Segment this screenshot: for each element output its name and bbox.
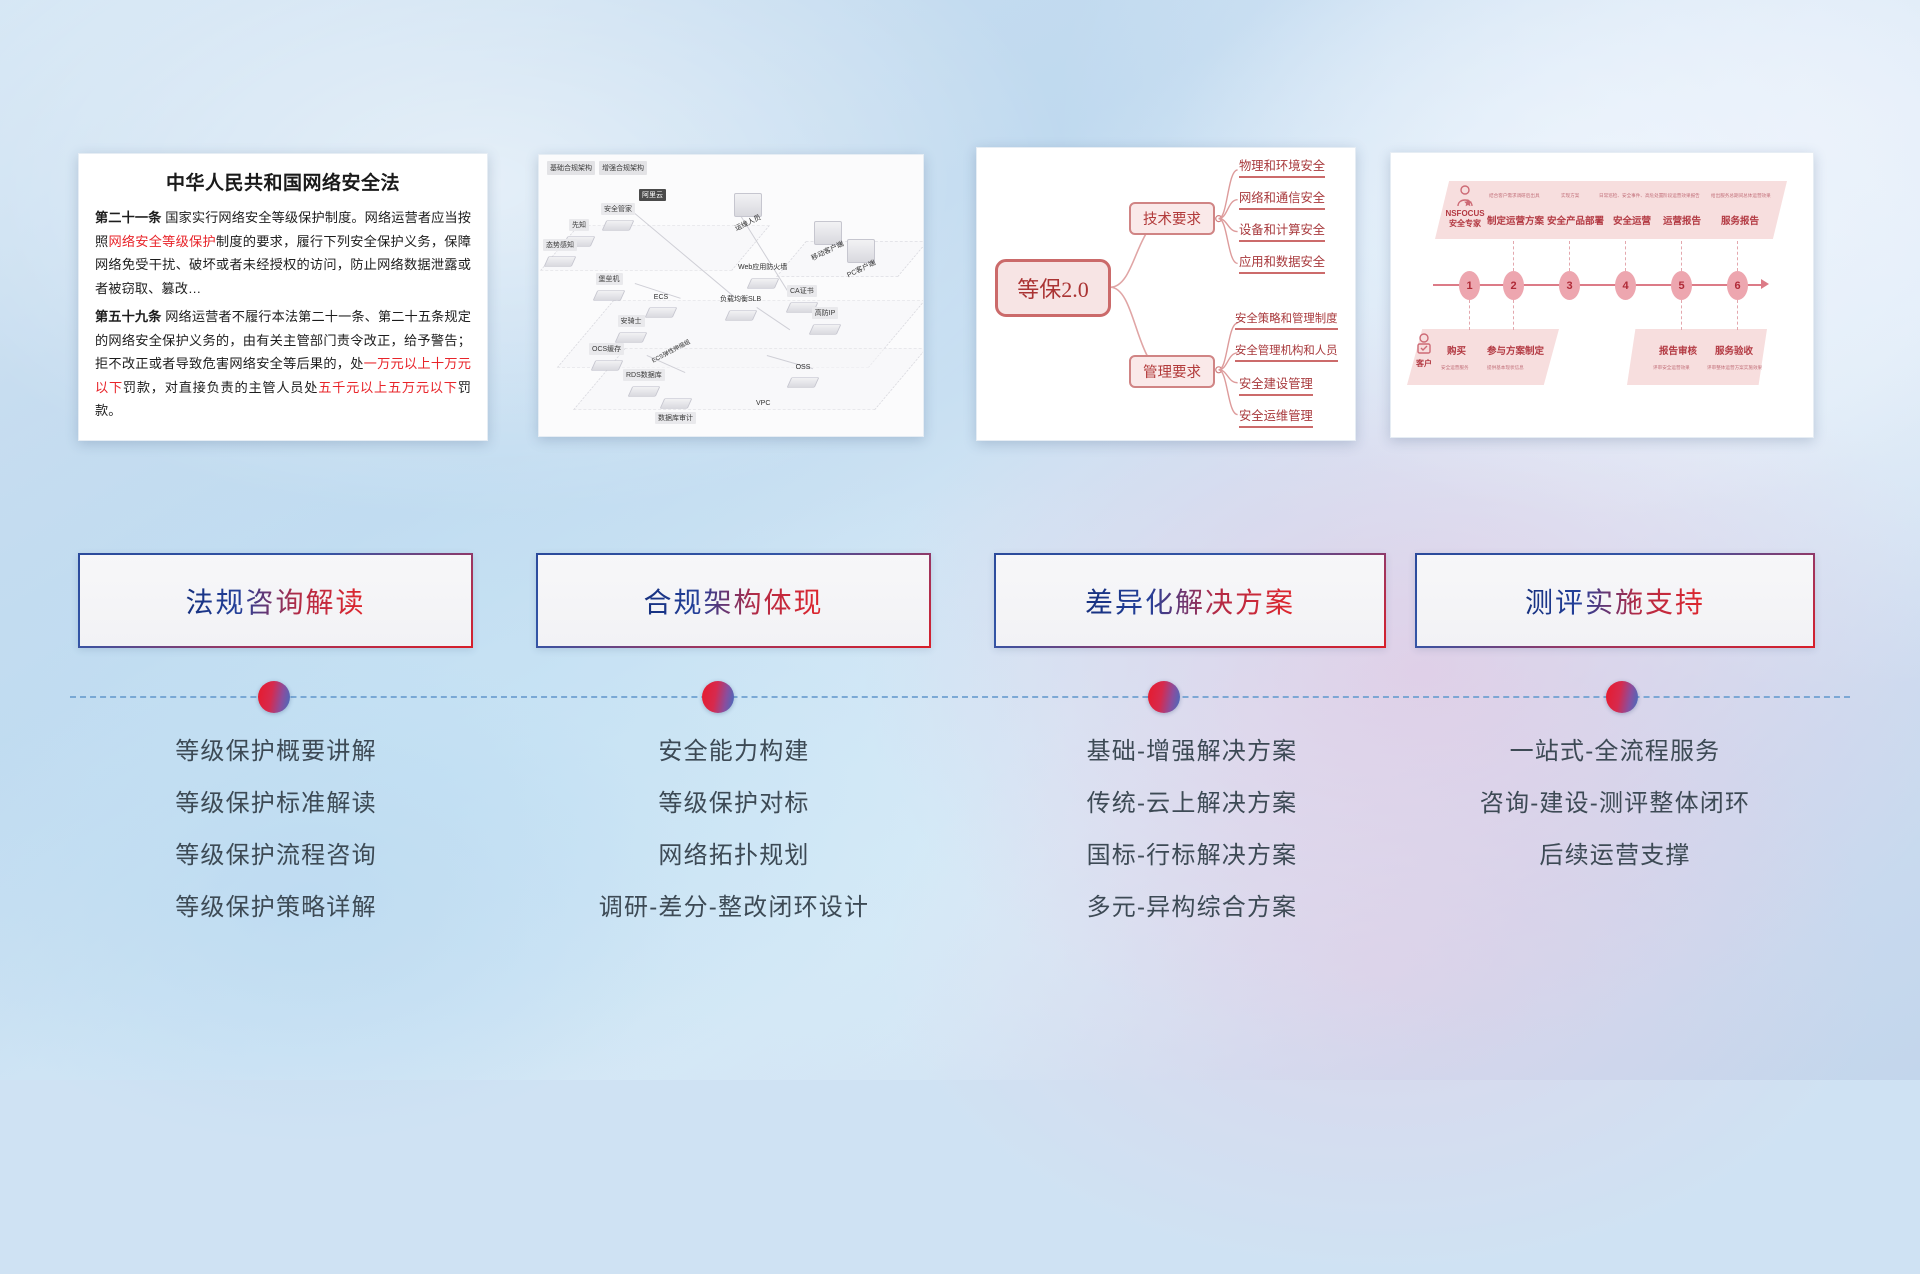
section-items-2: 基础-增强解决方案 传统-云上解决方案 国标-行标解决方案 多元-异构综合方案	[994, 740, 1390, 948]
node-icon-slb	[724, 310, 757, 321]
node-icon-bastion	[593, 290, 626, 301]
mindmap-branch-management: 管理要求	[1129, 355, 1215, 388]
timeline-axis	[1433, 284, 1763, 286]
timeline-top-sub-1: 结合客户需求调研后出具	[1489, 193, 1540, 199]
timeline-step-4: 4	[1615, 271, 1636, 300]
node-label-xianzhi: 先知	[569, 219, 589, 231]
timeline-rail	[70, 696, 1850, 698]
node-label-db-audit: 数据库审计	[655, 412, 696, 424]
law-title: 中华人民共和国网络安全法	[95, 168, 471, 195]
list-item: 传统-云上解决方案	[994, 792, 1390, 816]
timeline-top-title-1: 制定运营方案	[1487, 213, 1544, 227]
law-text-59b: 罚款，对直接负责的主管人员处	[123, 380, 318, 395]
mindmap-leaf-org: 安全管理机构和人员	[1235, 342, 1338, 362]
node-anqishi: 安骑士	[617, 315, 645, 346]
timeline-step-6: 6	[1727, 271, 1748, 300]
list-item: 后续运营支撑	[1415, 844, 1815, 868]
timeline-brand-line2: 安全专家	[1441, 219, 1489, 229]
list-item: 安全能力构建	[536, 740, 932, 764]
expert-person-icon	[1455, 185, 1475, 207]
node-icon-oss	[787, 377, 820, 388]
section-title-text-3: 测评实施支持	[1525, 581, 1705, 621]
content-stage: 中华人民共和国网络安全法 第二十一条 国家实行网络安全等级保护制度。网络运营者应…	[0, 0, 1920, 1080]
architecture-legend: 基础合规架构 增强合规架构	[547, 161, 647, 175]
section-title-text-2: 差异化解决方案	[1085, 581, 1295, 621]
list-item: 等级保护概要讲解	[78, 740, 474, 764]
timeline-bottom-title-3: 报告审核	[1659, 343, 1697, 357]
timeline-top-title-2: 安全产品部署	[1547, 213, 1604, 227]
mindmap-branch-technical: 技术要求	[1129, 202, 1215, 235]
mindmap-root: 等保2.0	[995, 259, 1111, 317]
card-service-timeline: NSFOCUS 安全专家 客户 1 2 3 4 5 6	[1390, 152, 1814, 438]
legend-item-basic: 基础合规架构	[547, 161, 595, 175]
timeline-bottom-sub-1: 安全运营服务	[1441, 365, 1469, 371]
list-item: 基础-增强解决方案	[994, 740, 1390, 764]
legend-item-enhanced: 增强合规架构	[599, 161, 647, 175]
node-label-rds: RDS数据库	[623, 369, 665, 381]
node-label-ecs: ECS	[651, 293, 671, 302]
timeline-stem-up-2	[1513, 241, 1514, 271]
law-paragraph-59: 第五十九条 网络运营者不履行本法第二十一条、第二十五条规定的网络安全保护义务的，…	[95, 305, 471, 423]
list-item: 多元-异构综合方案	[994, 896, 1390, 920]
timeline-rail-dot-2[interactable]	[1148, 681, 1180, 713]
timeline-arrow-icon	[1761, 279, 1769, 289]
mindmap-diagram: 等保2.0 技术要求 管理要求 物理和环境安全 网络和通信安全 设备和计算安全 …	[977, 148, 1355, 440]
timeline-stem-down-1	[1469, 300, 1470, 330]
timeline-stem-down-6	[1737, 300, 1738, 330]
node-icon-ocs-cache	[590, 360, 623, 371]
node-oss: OSS	[789, 363, 817, 391]
law-paragraph-21: 第二十一条 国家实行网络安全等级保护制度。网络运营者应当按照网络安全等级保护制度…	[95, 206, 471, 300]
list-item: 调研-差分-整改闭环设计	[536, 896, 932, 920]
list-item: 网络拓扑规划	[536, 844, 932, 868]
card-dengbao-mindmap: 等保2.0 技术要求 管理要求 物理和环境安全 网络和通信安全 设备和计算安全 …	[976, 147, 1356, 441]
list-item: 国标-行标解决方案	[994, 844, 1390, 868]
node-icon-waf	[746, 278, 779, 289]
node-pc-client: PC客户端	[843, 239, 880, 277]
node-label-ocs-cache: OCS缓存	[589, 343, 624, 355]
node-label-ca-cert: CA证书	[787, 285, 817, 297]
timeline-rail-dot-1[interactable]	[702, 681, 734, 713]
timeline-stem-up-5	[1681, 241, 1682, 271]
node-icon-ecs	[645, 307, 678, 318]
node-label-security-butler: 安全管家	[601, 203, 635, 215]
timeline-step-5: 5	[1671, 271, 1692, 300]
timeline-brand-line1: NSFOCUS	[1441, 209, 1489, 219]
node-icon-security-butler	[602, 220, 635, 231]
node-label-waf: Web应用防火墙	[735, 261, 790, 273]
illustration-card-row: 中华人民共和国网络安全法 第二十一条 国家实行网络安全等级保护制度。网络运营者应…	[0, 0, 1920, 470]
section-items-1: 安全能力构建 等级保护对标 网络拓扑规划 调研-差分-整改闭环设计	[536, 740, 932, 948]
law-highlight-21: 网络安全等级保护	[108, 234, 215, 249]
timeline-step-2: 2	[1503, 271, 1524, 300]
timeline-brand-label: NSFOCUS 安全专家	[1441, 209, 1489, 229]
customer-person-icon	[1415, 333, 1433, 355]
node-situational-awareness: 态势感知	[543, 239, 577, 270]
timeline-stem-down-2	[1513, 300, 1514, 330]
timeline-customer-label: 客户	[1415, 359, 1433, 369]
section-items-3: 一站式-全流程服务 咨询-建设-测评整体闭环 后续运营支撑	[1415, 740, 1815, 896]
node-db-audit: 数据库审计	[655, 395, 696, 426]
timeline-rail-dot-0[interactable]	[258, 681, 290, 713]
node-security-butler: 安全管家	[601, 203, 635, 234]
node-ops-staff: 运维人员	[731, 193, 765, 231]
section-title-box-0[interactable]: 法规咨询解读	[78, 553, 473, 648]
law-document: 中华人民共和国网络安全法 第二十一条 国家实行网络安全等级保护制度。网络运营者应…	[79, 154, 487, 440]
node-bastion: 堡垒机	[595, 273, 623, 304]
timeline-band-customer-right	[1627, 329, 1767, 385]
section-title-box-3[interactable]: 测评实施支持	[1415, 553, 1815, 648]
law-highlight-59b: 五千元以上五万元以下	[318, 380, 458, 395]
timeline-bottom-sub-3: 评审安全运营效果	[1653, 365, 1690, 371]
service-timeline-diagram: NSFOCUS 安全专家 客户 1 2 3 4 5 6	[1391, 153, 1813, 437]
timeline-top-title-4: 运营报告	[1663, 213, 1701, 227]
section-items-0: 等级保护概要讲解 等级保护标准解读 等级保护流程咨询 等级保护策略详解	[78, 740, 474, 948]
timeline-top-title-5: 服务报告	[1721, 213, 1759, 227]
timeline-stem-up-4	[1625, 241, 1626, 271]
section-title-text-1: 合规架构体现	[643, 581, 823, 621]
mindmap-leaf-operations: 安全运维管理	[1239, 406, 1313, 428]
mindmap-leaf-construction: 安全建设管理	[1239, 374, 1313, 396]
node-mobile-client: 移动客户端	[807, 221, 848, 259]
timeline-bottom-sub-4: 评审整体运营方案实施效果	[1707, 365, 1762, 371]
node-anti-ddos-ip: 高防IP	[811, 307, 839, 338]
list-item: 一站式-全流程服务	[1415, 740, 1815, 764]
node-label-bastion: 堡垒机	[596, 273, 623, 285]
node-slb: 负载均衡SLB	[717, 293, 764, 324]
node-ocs-cache: OCS缓存	[589, 343, 624, 374]
list-item: 等级保护标准解读	[78, 792, 474, 816]
timeline-bottom-sub-2: 提供基本现状信息	[1487, 365, 1524, 371]
timeline-stem-up-3	[1569, 241, 1570, 271]
timeline-stem-down-5	[1681, 300, 1682, 330]
timeline-bottom-title-2: 参与方案制定	[1487, 343, 1544, 357]
node-label-vpc: VPC	[753, 399, 773, 408]
node-label-situational-awareness: 态势感知	[543, 239, 577, 251]
timeline-bottom-title-4: 服务验收	[1715, 343, 1753, 357]
timeline-step-3: 3	[1559, 271, 1580, 300]
mindmap-leaf-device: 设备和计算安全	[1239, 220, 1325, 242]
node-icon-anqishi	[615, 332, 648, 343]
mindmap-leaf-policy: 安全策略和管理制度	[1235, 310, 1338, 330]
architecture-diagram: 基础合规架构 增强合规架构 阿里云	[539, 155, 923, 436]
node-ecs: ECS	[647, 293, 675, 321]
node-vpc: VPC	[753, 399, 773, 410]
law-article-label-59: 第五十九条	[95, 309, 161, 324]
list-item: 等级保护对标	[536, 792, 932, 816]
node-label-oss: OSS	[793, 363, 814, 372]
section-title-text-0: 法规咨询解读	[185, 581, 365, 621]
node-waf: Web应用防火墙	[735, 261, 790, 292]
node-label-slb: 负载均衡SLB	[717, 293, 764, 305]
law-article-label-21: 第二十一条	[95, 210, 161, 225]
timeline-top-sub-4: 阶段运营效果报告	[1663, 193, 1700, 199]
timeline-stem-up-6	[1737, 241, 1738, 271]
timeline-top-title-3: 安全运营	[1613, 213, 1651, 227]
timeline-rail-dot-3[interactable]	[1606, 681, 1638, 713]
timeline-bottom-title-1: 购买	[1447, 343, 1466, 357]
node-icon-anti-ddos-ip	[809, 324, 842, 335]
node-label-anti-ddos-ip: 高防IP	[812, 307, 839, 319]
mindmap-leaf-application: 应用和数据安全	[1239, 252, 1325, 274]
node-label-anqishi: 安骑士	[618, 315, 645, 327]
mindmap-leaf-physical: 物理和环境安全	[1239, 156, 1325, 178]
timeline-top-sub-3: 日常巡检、安全事件、高危处置	[1599, 193, 1663, 199]
card-cybersecurity-law: 中华人民共和国网络安全法 第二十一条 国家实行网络安全等级保护制度。网络运营者应…	[78, 153, 488, 441]
node-aliyun: 阿里云	[639, 189, 666, 203]
list-item: 咨询-建设-测评整体闭环	[1415, 792, 1815, 816]
node-icon-db-audit	[659, 398, 692, 409]
node-label-aliyun: 阿里云	[639, 189, 666, 201]
list-item: 等级保护流程咨询	[78, 844, 474, 868]
section-title-box-1[interactable]: 合规架构体现	[536, 553, 931, 648]
timeline-top-sub-2: 实现方案	[1561, 193, 1579, 199]
timeline-top-sub-5: 给出服务总期间总体运营效果	[1711, 193, 1771, 199]
list-item: 等级保护策略详解	[78, 896, 474, 920]
node-icon-situational-awareness	[544, 256, 577, 267]
section-title-box-2[interactable]: 差异化解决方案	[994, 553, 1386, 648]
mindmap-leaf-network: 网络和通信安全	[1239, 188, 1325, 210]
timeline-step-1: 1	[1459, 271, 1480, 300]
card-compliance-architecture: 基础合规架构 增强合规架构 阿里云	[538, 154, 924, 437]
